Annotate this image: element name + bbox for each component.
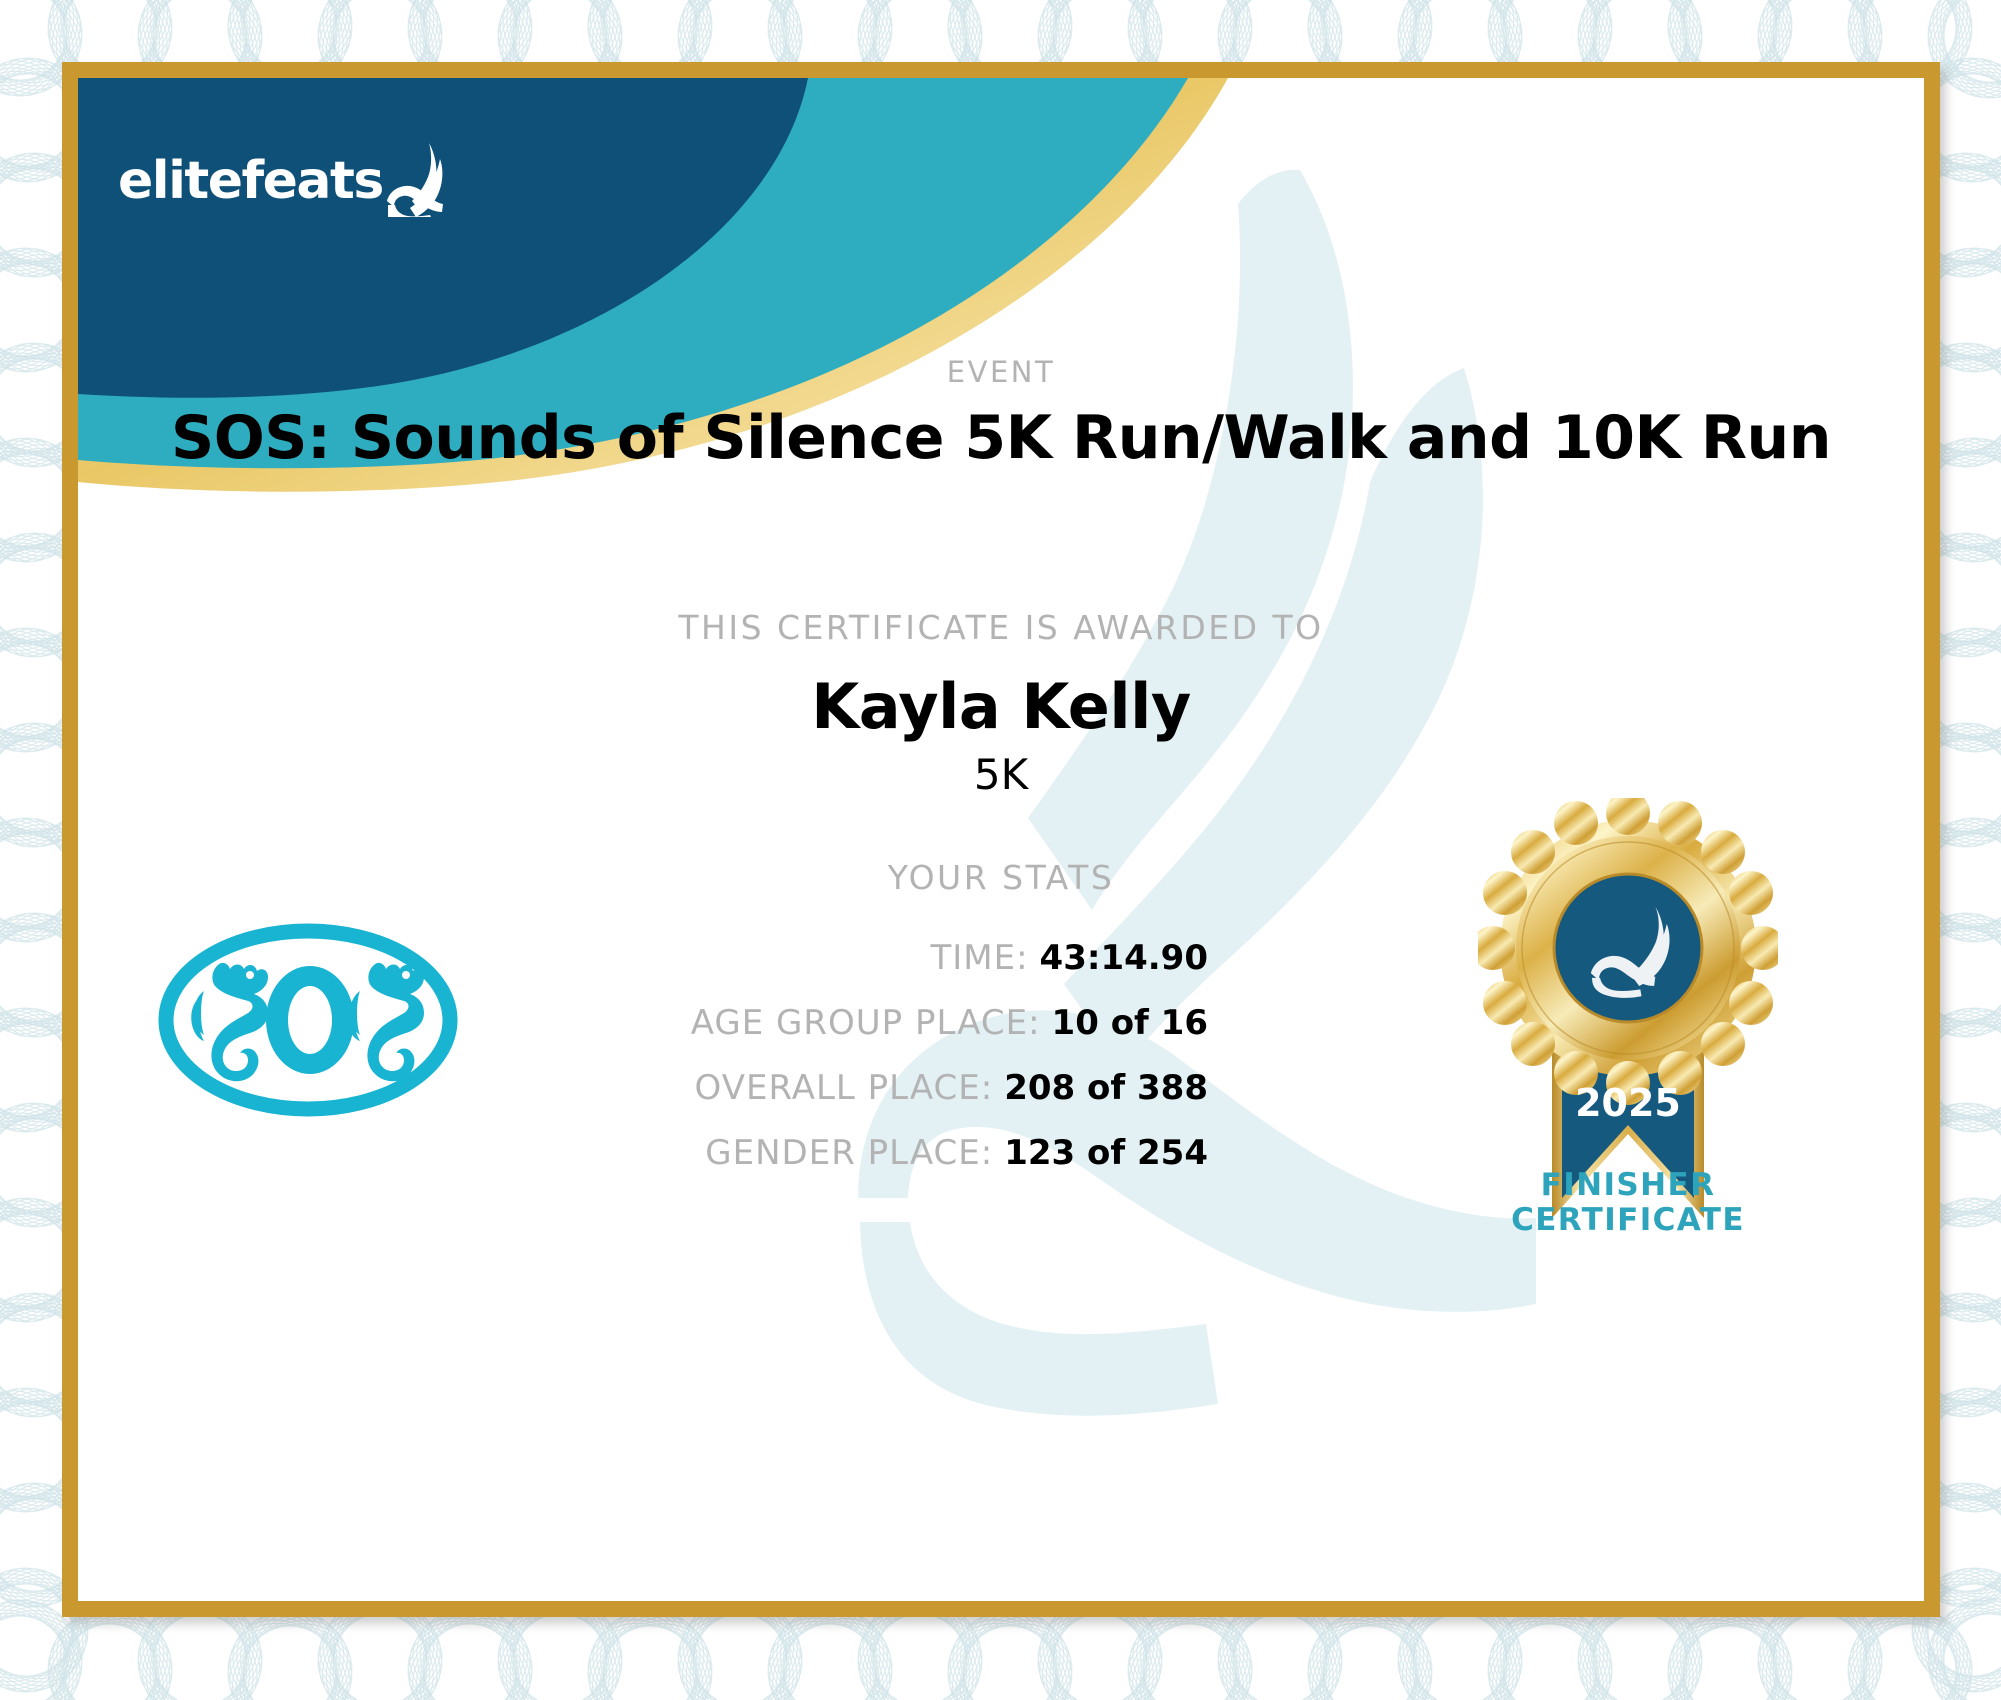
finisher-caption-line1: FINISHER [1468,1168,1788,1203]
certificate-content: EVENT SOS: Sounds of Silence 5K Run/Walk… [78,78,1924,1601]
finisher-caption-line2: CERTIFICATE [1468,1203,1788,1238]
certificate-body: elitefeats EVENT SOS: Sounds of Silence … [78,78,1924,1601]
sos-seahorse-oval-logo [158,923,458,1118]
stat-label: GENDER PLACE: [705,1133,993,1173]
event-distance: 5K [78,750,1924,799]
certificate-gold-frame: elitefeats EVENT SOS: Sounds of Silence … [62,62,1940,1617]
stat-value: 10 of 16 [1052,1003,1208,1043]
event-label: EVENT [78,355,1924,389]
stat-label: TIME: [930,938,1028,978]
stat-label: OVERALL PLACE: [695,1068,994,1108]
medal-year: 2025 [1575,1081,1681,1125]
stat-value: 43:14.90 [1040,938,1208,978]
stat-label: AGE GROUP PLACE: [691,1003,1041,1043]
stat-row-gender-place: GENDER PLACE: 123 of 254 [78,1133,1208,1173]
event-title: SOS: Sounds of Silence 5K Run/Walk and 1… [78,403,1924,473]
stat-value: 123 of 254 [1004,1133,1208,1173]
recipient-name: Kayla Kelly [78,670,1924,743]
stat-value: 208 of 388 [1004,1068,1208,1108]
awarded-to-label: THIS CERTIFICATE IS AWARDED TO [78,608,1924,647]
finisher-certificate-caption: FINISHER CERTIFICATE [1468,1168,1788,1237]
